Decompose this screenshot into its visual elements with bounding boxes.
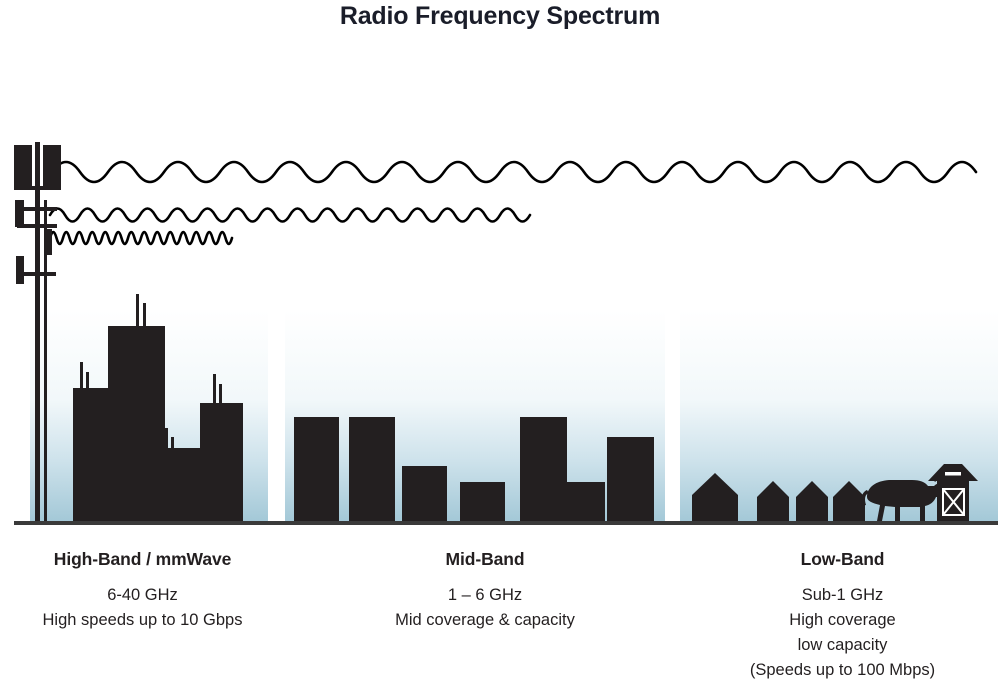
band-desc-high: 6-40 GHz High speeds up to 10 Gbps (0, 583, 285, 633)
band-desc-low-line-2: High coverage (685, 608, 1000, 633)
midrise-2 (349, 417, 395, 522)
antenna-panel-2 (43, 145, 61, 190)
antenna-panel-3 (15, 200, 24, 227)
skyscraper-c-spire-1 (165, 428, 168, 450)
tower-crossarm-mid-2 (17, 224, 57, 228)
wave-high-band (50, 232, 232, 244)
caption-high-band: High-Band / mmWave 6-40 GHz High speeds … (0, 540, 285, 700)
skyscraper-d-spire-2 (219, 384, 222, 405)
band-desc-low-line-1: Sub-1 GHz (685, 583, 1000, 608)
band-desc-mid-line-2: Mid coverage & capacity (285, 608, 685, 633)
skyscraper-b-spire-1 (136, 294, 139, 328)
band-title-high: High-Band / mmWave (0, 549, 285, 570)
band-desc-low-line-3: low capacity (685, 633, 1000, 658)
skyscraper-c-spire-2 (171, 437, 174, 450)
wave-low-band (52, 162, 976, 182)
antenna-panel-1 (14, 145, 32, 190)
barn-loft-vent (945, 472, 961, 476)
band-desc-mid: 1 – 6 GHz Mid coverage & capacity (285, 583, 685, 633)
tower-mast (35, 142, 40, 522)
caption-mid-band: Mid-Band 1 – 6 GHz Mid coverage & capaci… (285, 540, 685, 700)
band-title-low: Low-Band (685, 549, 1000, 570)
skyscraper-b-spire-2 (143, 303, 146, 328)
midrise-3 (402, 466, 447, 522)
wave-mid-band (50, 209, 530, 222)
band-desc-low: Sub-1 GHz High coverage low capacity (Sp… (685, 583, 1000, 683)
midrise-7 (607, 437, 654, 522)
midrise-6 (567, 482, 605, 522)
band-captions: High-Band / mmWave 6-40 GHz High speeds … (0, 540, 1000, 700)
skyscraper-a-spire-2 (86, 372, 89, 390)
skyscraper-a-spire-1 (80, 362, 83, 390)
midrise-4 (460, 482, 505, 522)
radio-waves (50, 162, 976, 244)
skyscraper-d-spire-1 (213, 374, 216, 405)
infographic-root: Radio Frequency Spectrum (0, 0, 1000, 700)
skyscraper-b (108, 326, 165, 522)
midrise-5 (520, 417, 567, 522)
ground-line (14, 521, 998, 525)
antenna-panel-4 (44, 229, 52, 255)
band-desc-high-line-2: High speeds up to 10 Gbps (0, 608, 285, 633)
band-desc-high-line-1: 6-40 GHz (0, 583, 285, 608)
band-desc-mid-line-1: 1 – 6 GHz (285, 583, 685, 608)
caption-low-band: Low-Band Sub-1 GHz High coverage low cap… (685, 540, 1000, 700)
band-title-mid: Mid-Band (285, 549, 685, 570)
antenna-panel-5 (16, 256, 24, 284)
skyscraper-d (200, 403, 243, 522)
skyscraper-c (163, 448, 205, 522)
band-desc-low-line-4: (Speeds up to 100 Mbps) (685, 658, 1000, 683)
spectrum-scene (0, 0, 1000, 540)
midrise-1 (294, 417, 339, 522)
